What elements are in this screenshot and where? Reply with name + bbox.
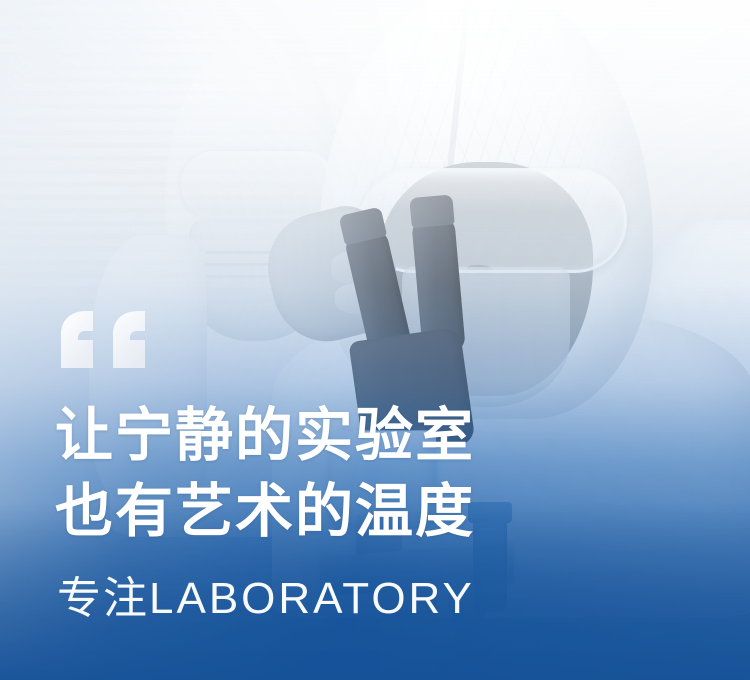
quotation-mark-icon: [55, 310, 151, 368]
headline: 让宁静的实验室 也有艺术的温度: [55, 398, 475, 550]
banner-content: 让宁静的实验室 也有艺术的温度 专注LABORATORY: [55, 0, 695, 680]
headline-line-2: 也有艺术的温度: [55, 474, 475, 550]
subheadline-en: LABORATORY: [149, 574, 475, 623]
subheadline: 专注LABORATORY: [57, 572, 475, 626]
laboratory-promo-banner: 让宁静的实验室 也有艺术的温度 专注LABORATORY: [0, 0, 750, 680]
headline-line-1: 让宁静的实验室: [55, 398, 475, 474]
subheadline-cn: 专注: [57, 574, 149, 623]
